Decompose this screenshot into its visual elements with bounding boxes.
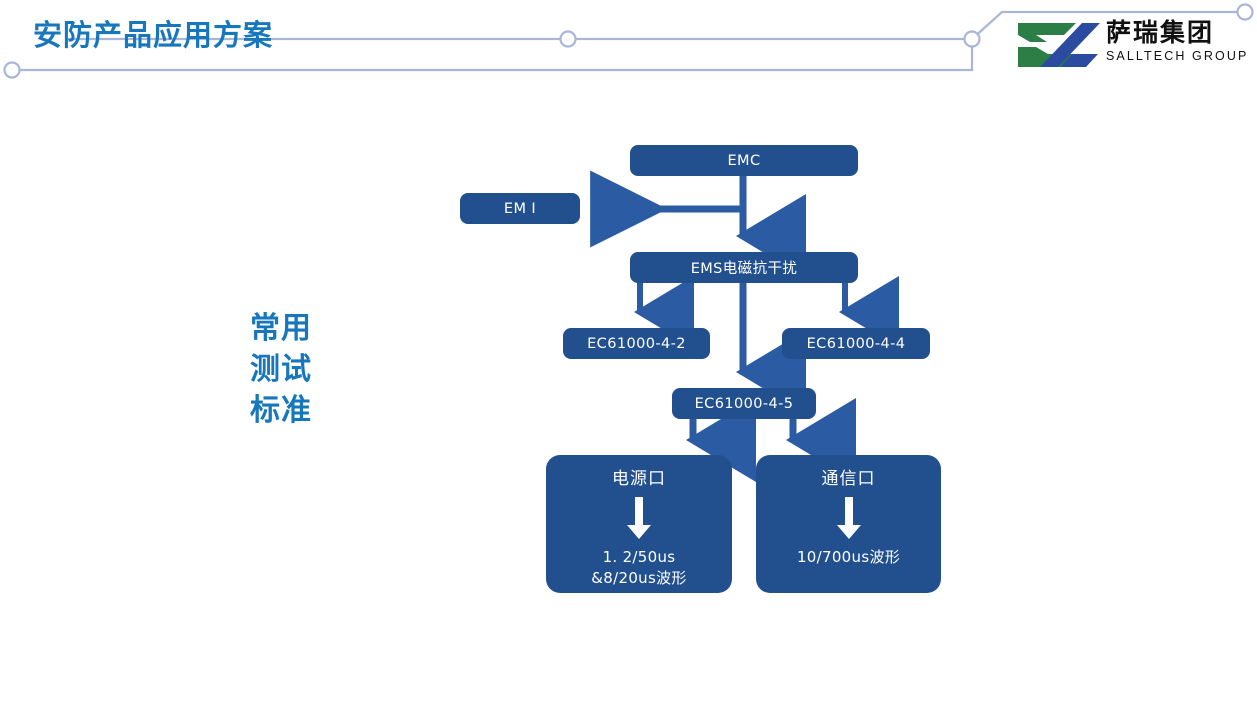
node-ems-label: EMS电磁抗干扰 [691,257,798,278]
node-emi-label: EM I [504,201,536,217]
node-power-port-title: 电源口 [612,467,666,491]
node-comm-port-title: 通信口 [822,467,876,491]
node-emc-label: EMC [728,153,761,169]
node-comm-port-caption: 10/700us波形 [797,547,900,568]
node-ems[interactable]: EMS电磁抗干扰 [630,252,858,283]
node-ec61000-4-4[interactable]: EC61000-4-4 [782,328,930,359]
node-ec61000-4-4-label: EC61000-4-4 [807,336,906,352]
node-ec61000-4-5-label: EC61000-4-5 [695,396,794,412]
node-ec61000-4-5[interactable]: EC61000-4-5 [672,388,816,419]
slide-canvas: 安防产品应用方案 萨瑞集团 SALLTECH GROUP 常用 测试 标准 [0,0,1257,704]
node-ec61000-4-2-label: EC61000-4-2 [587,336,686,352]
node-power-port[interactable]: 电源口 1. 2/50us &8/20us波形 [546,455,732,593]
node-power-port-caption: 1. 2/50us &8/20us波形 [591,547,686,589]
down-arrow-icon [836,497,862,539]
node-ec61000-4-2[interactable]: EC61000-4-2 [563,328,710,359]
node-comm-port[interactable]: 通信口 10/700us波形 [756,455,941,593]
down-arrow-icon [626,497,652,539]
node-emi[interactable]: EM I [460,193,580,224]
node-emc[interactable]: EMC [630,145,858,176]
